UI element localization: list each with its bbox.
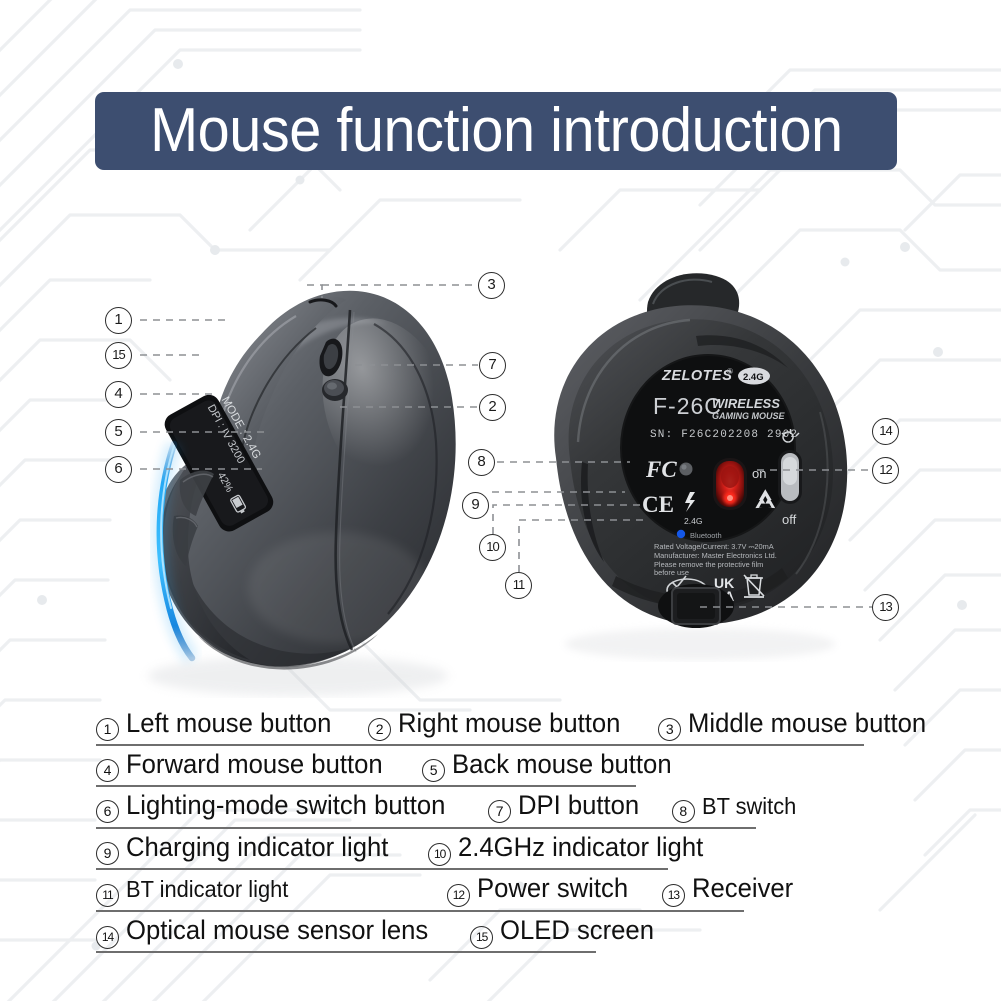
svg-text:off: off bbox=[782, 512, 797, 527]
legend-item-7: 7DPI button bbox=[488, 785, 646, 826]
svg-text:GAMING MOUSE: GAMING MOUSE bbox=[712, 411, 785, 421]
callout-5[interactable]: 5 bbox=[105, 419, 132, 446]
legend-label-3: Middle mouse button bbox=[688, 703, 926, 744]
legend-number-13: 13 bbox=[662, 884, 685, 907]
legend-number-4: 4 bbox=[96, 759, 119, 782]
legend-item-4: 4Forward mouse button bbox=[96, 744, 396, 785]
callout-13[interactable]: 13 bbox=[872, 594, 899, 621]
legend-item-3: 3Middle mouse button bbox=[658, 703, 939, 744]
legend-row: 14Optical mouse sensor lens15OLED screen bbox=[96, 910, 896, 951]
callout-7[interactable]: 7 bbox=[479, 352, 506, 379]
legend-item-11: 11BT indicator light bbox=[96, 869, 297, 910]
charging-indicator-led bbox=[680, 463, 693, 476]
legend-item-2: 2Right mouse button bbox=[368, 703, 632, 744]
svg-text:®: ® bbox=[727, 367, 733, 376]
infographic-canvas: Mouse function introduction bbox=[0, 0, 1001, 1001]
manufacturer-text: Manufacturer: Master Electronics Ltd. bbox=[654, 551, 777, 560]
callout-15[interactable]: 15 bbox=[105, 342, 132, 369]
callout-3[interactable]: 3 bbox=[478, 272, 505, 299]
legend-row: 4Forward mouse button5Back mouse button bbox=[96, 744, 896, 785]
legend-row: 9Charging indicator light102.4GHz indica… bbox=[96, 827, 896, 868]
legend-item-5: 5Back mouse button bbox=[422, 744, 683, 785]
callout-4[interactable]: 4 bbox=[105, 381, 132, 408]
serial-number-text: SN: F26C202208 2902 bbox=[650, 429, 798, 441]
legend-divider bbox=[96, 951, 596, 953]
callout-11[interactable]: 11 bbox=[505, 572, 532, 599]
legend-label-4: Forward mouse button bbox=[126, 744, 383, 785]
legend-label-2: Right mouse button bbox=[398, 703, 620, 744]
svg-text:WIRELESS: WIRELESS bbox=[712, 396, 780, 411]
mouse-top-view-illustration: MODE : 2.4G DPI : IV 3200 42% bbox=[88, 258, 488, 698]
legend-item-8: 8BT switch bbox=[672, 786, 801, 827]
mouse-underside-illustration: ZELOTES ® 2.4G F-26C WIRELESS GAMING MOU… bbox=[520, 262, 880, 662]
legend-item-1: 1Left mouse button bbox=[96, 703, 342, 744]
svg-text:ZELOTES: ZELOTES bbox=[661, 368, 732, 384]
legend-number-1: 1 bbox=[96, 718, 119, 741]
legend-item-9: 9Charging indicator light bbox=[96, 827, 402, 868]
legend-number-15: 15 bbox=[470, 926, 493, 949]
legend-number-8: 8 bbox=[672, 800, 695, 823]
legend-row: 6Lighting-mode switch button7DPI button8… bbox=[96, 785, 896, 827]
callout-12[interactable]: 12 bbox=[872, 457, 899, 484]
callout-6[interactable]: 6 bbox=[105, 456, 132, 483]
callout-2[interactable]: 2 bbox=[479, 394, 506, 421]
svg-text:Bluetooth: Bluetooth bbox=[690, 531, 722, 540]
legend-label-15: OLED screen bbox=[500, 910, 654, 951]
legend-label-14: Optical mouse sensor lens bbox=[126, 910, 428, 951]
legend-item-10: 102.4GHz indicator light bbox=[428, 827, 716, 868]
legend-label-1: Left mouse button bbox=[126, 703, 331, 744]
legend-list: 1Left mouse button2Right mouse button3Mi… bbox=[96, 703, 896, 951]
legend-item-14: 14Optical mouse sensor lens bbox=[96, 910, 444, 951]
callout-10[interactable]: 10 bbox=[479, 534, 506, 561]
legend-label-10: 2.4GHz indicator light bbox=[458, 827, 703, 868]
rated-voltage-text: Rated Voltage/Current: 3.7V ⎓20mA bbox=[654, 542, 774, 551]
svg-text:on: on bbox=[752, 466, 766, 481]
legend-number-2: 2 bbox=[368, 718, 391, 741]
legend-number-6: 6 bbox=[96, 800, 119, 823]
legend-number-9: 9 bbox=[96, 842, 119, 865]
legend-number-11: 11 bbox=[96, 884, 119, 907]
legend-row: 1Left mouse button2Right mouse button3Mi… bbox=[96, 703, 896, 744]
legend-label-11: BT indicator light bbox=[126, 869, 288, 910]
legend-row: 11BT indicator light12Power switch13Rece… bbox=[96, 868, 896, 910]
legend-item-15: 15OLED screen bbox=[470, 910, 662, 951]
legend-label-7: DPI button bbox=[518, 785, 639, 826]
title-banner: Mouse function introduction bbox=[95, 92, 897, 170]
legend-label-6: Lighting-mode switch button bbox=[126, 785, 445, 826]
legend-label-12: Power switch bbox=[477, 868, 628, 909]
brand-mark-graphic: ZELOTES ® 2.4G bbox=[661, 367, 770, 385]
svg-text:2.4G: 2.4G bbox=[684, 516, 702, 526]
callout-9[interactable]: 9 bbox=[462, 492, 489, 519]
callout-8[interactable]: 8 bbox=[468, 449, 495, 476]
legend-number-7: 7 bbox=[488, 800, 511, 823]
page-title: Mouse function introduction bbox=[150, 100, 843, 162]
legend-number-14: 14 bbox=[96, 926, 119, 949]
fcc-icon: FC bbox=[645, 457, 677, 482]
legend-label-9: Charging indicator light bbox=[126, 827, 388, 868]
legend-item-13: 13Receiver bbox=[662, 868, 799, 909]
legend-item-12: 12Power switch bbox=[447, 868, 636, 909]
dpi-button-graphic bbox=[322, 379, 348, 401]
svg-text:2.4G: 2.4G bbox=[743, 372, 764, 383]
receiver-dongle-graphic bbox=[658, 584, 734, 628]
ce-icon: CE bbox=[642, 492, 674, 517]
legend-number-3: 3 bbox=[658, 718, 681, 741]
legend-number-10: 10 bbox=[428, 843, 451, 866]
legend-label-13: Receiver bbox=[692, 868, 793, 909]
legend-label-8: BT switch bbox=[702, 786, 796, 827]
callout-1[interactable]: 1 bbox=[105, 307, 132, 334]
callout-14[interactable]: 14 bbox=[872, 418, 899, 445]
legend-number-5: 5 bbox=[422, 759, 445, 782]
optical-sensor-graphic bbox=[713, 458, 747, 510]
legend-number-12: 12 bbox=[447, 884, 470, 907]
legend-item-6: 6Lighting-mode switch button bbox=[96, 785, 462, 826]
bluetooth-indicator-led bbox=[677, 530, 685, 538]
legend-label-5: Back mouse button bbox=[452, 744, 672, 785]
